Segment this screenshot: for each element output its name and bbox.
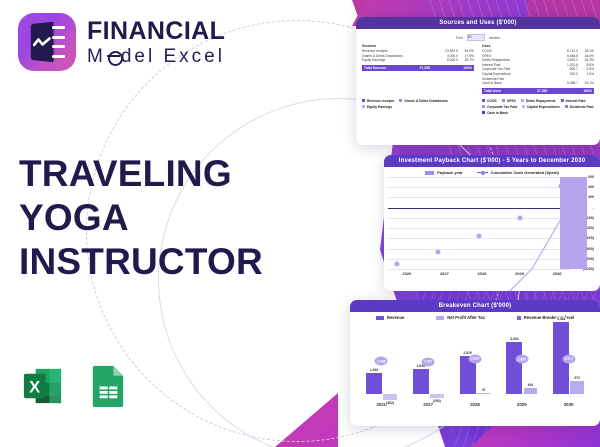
legend-label-revenue: Revenue bbox=[387, 315, 404, 320]
legend-swatch-icon bbox=[362, 99, 365, 102]
total-sources-pct: 100% bbox=[463, 66, 472, 70]
uses-bar-chart: 8,7105,4693,9921,202601292-9,089 bbox=[482, 117, 598, 145]
bar-value-label: 3,904 bbox=[509, 337, 520, 341]
total-uses-label: Total Uses bbox=[484, 89, 501, 93]
legend-item: Grants & Debts Drawdowns bbox=[399, 99, 447, 103]
legend-label-net-profit: Net Profit After Tax bbox=[447, 315, 485, 320]
period-value[interactable]: 60 bbox=[467, 34, 485, 41]
legend-label: Grants & Debts Drawdowns bbox=[404, 99, 447, 103]
legend-swatch-icon bbox=[502, 99, 505, 102]
revenue-bar: 1,540 bbox=[366, 373, 382, 394]
period-selector[interactable]: First 60 months bbox=[362, 34, 594, 41]
table-row: Equity Earnings8,000.028.7% bbox=[362, 58, 474, 63]
legend-swatch-icon bbox=[521, 99, 524, 102]
row-pct: 24.1% bbox=[578, 81, 594, 86]
microsoft-excel-icon: X bbox=[20, 362, 67, 409]
legend-label: Dividends Paid bbox=[570, 105, 594, 109]
legend-swatch-icon bbox=[561, 99, 564, 102]
row-label: Equity Earnings bbox=[362, 58, 436, 63]
legend-swatch-icon bbox=[399, 99, 402, 102]
total-uses-row: Total Uses 27,355 100% bbox=[482, 88, 594, 94]
revenue-bar: 1,848 bbox=[413, 369, 429, 394]
legend-item-revenue: Revenue bbox=[376, 315, 404, 320]
brand-lockup: FINANCIAL M del Excel bbox=[18, 13, 225, 71]
sources-column: Sources Revenue receipts23,957.053.9%Gra… bbox=[362, 44, 474, 94]
total-uses-pct: 100% bbox=[583, 89, 592, 93]
line-marker bbox=[435, 249, 440, 254]
sources-bar-chart: 14,8983,0008,000 bbox=[358, 117, 474, 145]
legend-swatch-icon bbox=[565, 105, 568, 108]
net-profit-bar: 404 bbox=[524, 388, 538, 393]
revenue-bar: 3,904 bbox=[506, 342, 522, 394]
brand-subtitle-post: del Excel bbox=[121, 47, 225, 66]
line-marker bbox=[394, 261, 399, 266]
legend-item-net-profit: Net Profit After Tax bbox=[436, 315, 485, 320]
total-sources-row: Total Sources 27,355 100% bbox=[362, 65, 474, 71]
brand-logo-icon bbox=[18, 13, 76, 71]
bar-value-label: 404 bbox=[527, 383, 535, 387]
bar-value-label: (290) bbox=[432, 399, 442, 403]
legend-item: Interest Paid bbox=[561, 99, 586, 103]
breakeven-level-marker: 2,436 bbox=[375, 357, 388, 366]
legend-label: COGS bbox=[487, 99, 497, 103]
breakeven-plot-area: 1,540(462)2,4361,848(290)2,4072,819472,6… bbox=[358, 322, 592, 400]
legend-label: Equity Earnings bbox=[367, 105, 392, 109]
period-label-right: months bbox=[489, 36, 500, 40]
sources-and-uses-title: Sources and Uses ($'000) bbox=[356, 17, 600, 29]
legend-item: Equity Earnings bbox=[362, 105, 392, 109]
sources-uses-columns: Sources Revenue receipts23,957.053.9%Gra… bbox=[362, 44, 594, 94]
bar-value-label: 5,366 bbox=[556, 317, 567, 321]
brand-o-glyph-icon bbox=[107, 49, 120, 64]
investment-payback-title: Investment Payback Chart ($'000) - 5 Yea… bbox=[384, 155, 600, 167]
svg-text:X: X bbox=[29, 377, 40, 396]
legend-swatch-breakeven-icon bbox=[517, 316, 521, 320]
legend-item: OPEX bbox=[502, 99, 516, 103]
line-marker bbox=[559, 184, 564, 189]
brand-subtitle: M del Excel bbox=[87, 47, 225, 66]
breakeven-level-marker: 2,636 bbox=[469, 354, 482, 363]
investment-payback-card[interactable]: Investment Payback Chart ($'000) - 5 Yea… bbox=[384, 155, 600, 291]
legend-swatch-payback-year-icon bbox=[425, 171, 434, 175]
sources-and-uses-card[interactable]: Sources and Uses ($'000) First 60 months… bbox=[356, 17, 600, 145]
legend-label-cumulative-cash: Cumulative Cash Generated (Spent) bbox=[491, 170, 559, 175]
google-sheets-icon bbox=[84, 362, 131, 409]
logo-list-lines-icon bbox=[52, 26, 66, 58]
net-profit-bar: 972 bbox=[570, 381, 584, 394]
logo-wave-icon bbox=[33, 37, 51, 49]
period-label-left: First bbox=[456, 36, 463, 40]
legend-swatch-icon bbox=[482, 99, 485, 102]
net-profit-bar: (462) bbox=[383, 394, 397, 400]
legend-label: Capital Expenditures bbox=[527, 105, 560, 109]
row-value: 8,000.0 bbox=[436, 58, 458, 63]
legend-label: OPEX bbox=[507, 99, 516, 103]
table-row: Cash in Bank9,088.724.1% bbox=[482, 81, 594, 86]
line-marker bbox=[477, 234, 482, 239]
bar-value-label: 972 bbox=[573, 376, 581, 380]
legend-label: Revenue receipts bbox=[367, 99, 394, 103]
headline-line-3: INSTRUCTOR bbox=[19, 240, 263, 284]
row-value: 9,088.7 bbox=[556, 81, 578, 86]
legend-item: COGS bbox=[482, 99, 497, 103]
bar-value-label: 47 bbox=[481, 388, 487, 392]
bar-value-label: 1,540 bbox=[369, 368, 380, 372]
row-label: Cash in Bank bbox=[482, 81, 556, 86]
brand-title: FINANCIAL bbox=[87, 19, 225, 44]
legend-line-cumulative-cash-icon bbox=[477, 172, 488, 173]
row-pct: 28.7% bbox=[458, 58, 474, 63]
breakeven-card[interactable]: Breakeven Chart ($'000) Revenue Net Prof… bbox=[350, 300, 600, 426]
breakeven-level-marker: 2,585 bbox=[515, 355, 528, 364]
net-profit-bar: (290) bbox=[430, 394, 444, 398]
legend-label: Corporate Tax Paid bbox=[487, 105, 517, 109]
headline-line-2: YOGA bbox=[19, 196, 263, 240]
legend-item: Corporate Tax Paid bbox=[482, 105, 517, 109]
sources-rows: Revenue receipts23,957.053.9%Grants & De… bbox=[362, 49, 474, 63]
app-format-icons: X bbox=[20, 362, 131, 409]
legend-item: Dividends Paid bbox=[565, 105, 594, 109]
sources-legend: Revenue receiptsGrants & Debts Drawdowns… bbox=[362, 99, 474, 109]
uses-header: Uses bbox=[482, 44, 594, 48]
breakeven-title: Breakeven Chart ($'000) bbox=[350, 300, 600, 312]
net-profit-bar: 47 bbox=[477, 393, 491, 394]
legend-label: Interest Paid bbox=[566, 99, 586, 103]
brand-subtitle-pre: M bbox=[87, 47, 106, 66]
uses-rows: COGS8,710.328.1%OPEX5,468.818.6%Debts Re… bbox=[482, 49, 594, 86]
poster-canvas: FINANCIAL M del Excel TRAVELING YOGA INS… bbox=[0, 0, 600, 447]
legend-item-payback-year: Payback year bbox=[425, 170, 463, 175]
breakeven-level-marker: 2,613 bbox=[562, 354, 575, 363]
legend-label-breakeven-level: Revenue Breakeven level bbox=[524, 315, 574, 320]
legend-swatch-net-profit-icon bbox=[436, 316, 444, 320]
payback-cumulative-line bbox=[388, 177, 594, 291]
legend-swatch-icon bbox=[482, 105, 485, 108]
uses-column: Uses COGS8,710.328.1%OPEX5,468.818.6%Deb… bbox=[482, 44, 594, 94]
page-title: TRAVELING YOGA INSTRUCTOR bbox=[19, 152, 263, 284]
legend-label: Debts Repayments bbox=[526, 99, 556, 103]
headline-line-1: TRAVELING bbox=[19, 152, 263, 196]
breakeven-level-marker: 2,407 bbox=[422, 357, 435, 366]
legend-item-cumulative-cash: Cumulative Cash Generated (Spent) bbox=[477, 170, 559, 175]
brand-text: FINANCIAL M del Excel bbox=[87, 19, 225, 66]
legend-item: Debts Repayments bbox=[521, 99, 556, 103]
payback-legend: Payback year Cumulative Cash Generated (… bbox=[384, 167, 600, 176]
total-uses-value: 27,355 bbox=[537, 89, 547, 93]
legend-label-payback-year: Payback year bbox=[437, 170, 463, 175]
sources-and-uses-body: First 60 months Sources Revenue receipts… bbox=[356, 29, 600, 115]
legend-swatch-icon bbox=[522, 105, 525, 108]
legend-swatch-icon bbox=[362, 105, 365, 108]
total-sources-value: 27,355 bbox=[420, 66, 430, 70]
legend-item: Capital Expenditures bbox=[522, 105, 560, 109]
uses-legend: COGSOPEXDebts RepaymentsInterest PaidCor… bbox=[482, 99, 594, 115]
legend-swatch-revenue-icon bbox=[376, 316, 384, 320]
legend-item: Revenue receipts bbox=[362, 99, 394, 103]
bar-value-label: (462) bbox=[385, 401, 395, 405]
total-sources-label: Total Sources bbox=[364, 66, 386, 70]
sources-header: Sources bbox=[362, 44, 474, 48]
payback-plot-area: 600400200-(200)(400)(600)(800)(1,000)(1,… bbox=[388, 177, 594, 269]
line-marker bbox=[518, 215, 523, 220]
